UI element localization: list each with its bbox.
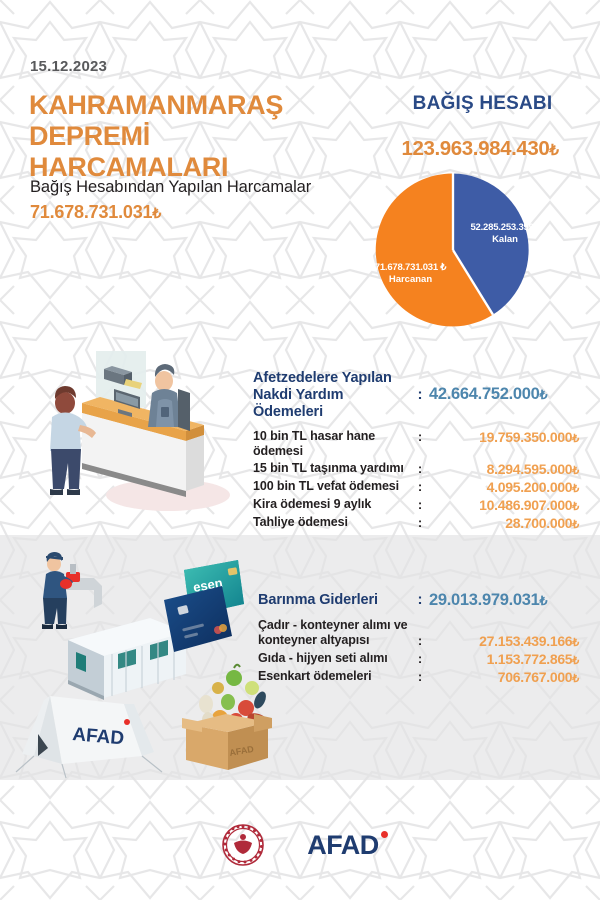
row-amount: 19.759.350.000 xyxy=(479,429,572,445)
cash-aid-heading: Afetzedelere Yapılan Nakdi Yardım Ödemel… xyxy=(253,370,411,421)
row-label: Gıda - hijyen seti alımı xyxy=(258,651,411,666)
shelter-total: 29.013.979.031₺ xyxy=(429,591,547,610)
cash-aid-header: Afetzedelere Yapılan Nakdi Yardım Ödemel… xyxy=(253,370,593,421)
row-amount: 8.294.595.000 xyxy=(487,461,573,477)
row-colon: : xyxy=(411,461,429,476)
cash-aid-colon: : xyxy=(411,370,429,403)
shelter-row: Esenkart ödemeleri : 706.767.000₺ xyxy=(258,669,598,685)
row-colon: : xyxy=(411,515,429,530)
donation-account-value: 123.963.984.430₺ xyxy=(360,137,600,161)
cash-aid-row: 10 bin TL hasar hane ödemesi : 19.759.35… xyxy=(253,429,593,459)
cash-aid-rows: 10 bin TL hasar hane ödemesi : 19.759.35… xyxy=(253,429,593,531)
cash-aid-row: 15 bin TL taşınma yardımı : 8.294.595.00… xyxy=(253,461,593,477)
esenkart-cards-illustration: esen xyxy=(150,558,250,668)
lira-icon: ₺ xyxy=(152,205,161,221)
row-label: Kira ödemesi 9 aylık xyxy=(253,497,411,512)
spent-from-donation-value: 71.678.731.031₺ xyxy=(30,202,161,223)
lira-icon: ₺ xyxy=(540,594,548,608)
afad-logo: AFAD xyxy=(307,830,379,861)
row-value: 1.153.772.865₺ xyxy=(429,651,579,667)
lira-icon: ₺ xyxy=(572,433,579,445)
row-amount: 1.153.772.865 xyxy=(487,651,573,667)
lira-icon: ₺ xyxy=(572,501,579,513)
row-colon: : xyxy=(411,669,429,684)
svg-text:AFAD: AFAD xyxy=(72,724,125,749)
lira-icon: ₺ xyxy=(572,655,579,667)
row-label-line1: Çadır - konteyner alımı ve xyxy=(258,618,411,633)
row-label: 15 bin TL taşınma yardımı xyxy=(253,461,411,476)
shelter-header: Barınma Giderleri : 29.013.979.031₺ xyxy=(258,591,598,610)
lira-icon: ₺ xyxy=(572,465,579,477)
cash-aid-row: 100 bin TL vefat ödemesi : 4.095.200.000… xyxy=(253,479,593,495)
cash-aid-section: Afetzedelere Yapılan Nakdi Yardım Ödemel… xyxy=(253,370,593,531)
shelter-row: Gıda - hijyen seti alımı : 1.153.772.865… xyxy=(258,651,598,667)
row-value: 10.486.907.000₺ xyxy=(429,497,579,513)
shelter-expenses-section: Barınma Giderleri : 29.013.979.031₺ Çadı… xyxy=(258,591,598,685)
donation-account-title: BAĞIŞ HESABI xyxy=(390,93,575,115)
row-value: 4.095.200.000₺ xyxy=(429,479,579,495)
donation-pie-chart xyxy=(375,172,531,328)
lira-icon: ₺ xyxy=(540,388,548,402)
bank-counter-illustration xyxy=(18,345,248,525)
afad-logo-dot-icon xyxy=(381,831,388,838)
shelter-rows: Çadır - konteyner alımı ve konteyner alt… xyxy=(258,618,598,685)
row-value: 706.767.000₺ xyxy=(429,669,579,685)
row-label: Çadır - konteyner alımı ve konteyner alt… xyxy=(258,618,411,648)
row-value: 27.153.439.166₺ xyxy=(429,618,579,649)
cash-aid-row: Kira ödemesi 9 aylık : 10.486.907.000₺ xyxy=(253,497,593,513)
row-label: Tahliye ödemesi xyxy=(253,515,411,530)
lira-icon: ₺ xyxy=(572,673,579,685)
shelter-total-amount: 29.013.979.031 xyxy=(429,591,540,609)
row-label: 100 bin TL vefat ödemesi xyxy=(253,479,411,494)
row-colon: : xyxy=(411,618,429,648)
cash-aid-heading-line2: Nakdi Yardım Ödemeleri xyxy=(253,387,411,421)
row-label: Esenkart ödemeleri xyxy=(258,669,411,684)
publish-date: 15.12.2023 xyxy=(30,58,107,75)
footer: AFAD xyxy=(0,810,600,880)
cash-aid-total: 42.664.752.000₺ xyxy=(429,370,547,404)
row-colon: : xyxy=(411,651,429,666)
lira-icon: ₺ xyxy=(572,483,579,495)
row-amount: 4.095.200.000 xyxy=(487,479,573,495)
spent-from-donation-label: Bağış Hesabından Yapılan Harcamalar xyxy=(30,178,311,197)
lira-icon: ₺ xyxy=(549,142,558,159)
row-amount: 706.767.000 xyxy=(498,669,573,685)
row-colon: : xyxy=(411,497,429,512)
turkish-republic-emblem-icon xyxy=(221,823,265,867)
afad-tent-illustration: AFAD xyxy=(14,690,164,780)
row-value: 19.759.350.000₺ xyxy=(429,429,579,445)
page-title-line1: KAHRAMANMARAŞ DEPREMİ xyxy=(29,90,389,152)
cash-aid-row: Tahliye ödemesi : 28.700.000₺ xyxy=(253,515,593,531)
row-label-line2: konteyner altyapısı xyxy=(258,633,411,648)
page-title: KAHRAMANMARAŞ DEPREMİ HARCAMALARI xyxy=(29,90,389,183)
donation-total-amount: 123.963.984.430 xyxy=(401,137,549,160)
row-colon: : xyxy=(411,479,429,494)
lira-icon: ₺ xyxy=(572,519,579,531)
cash-aid-heading-line1: Afetzedelere Yapılan xyxy=(253,370,411,387)
lira-icon: ₺ xyxy=(572,637,579,649)
shelter-colon: : xyxy=(411,591,429,608)
shelter-row: Çadır - konteyner alımı ve konteyner alt… xyxy=(258,618,598,649)
row-amount: 28.700.000 xyxy=(505,515,572,531)
infographic-page: 15.12.2023 KAHRAMANMARAŞ DEPREMİ HARCAMA… xyxy=(0,0,600,900)
cash-aid-total-amount: 42.664.752.000 xyxy=(429,385,540,403)
row-value: 8.294.595.000₺ xyxy=(429,461,579,477)
afad-logo-text: AFAD xyxy=(307,830,379,860)
row-label: 10 bin TL hasar hane ödemesi xyxy=(253,429,411,459)
row-colon: : xyxy=(411,429,429,444)
spent-amount: 71.678.731.031 xyxy=(30,202,152,222)
shelter-heading: Barınma Giderleri xyxy=(258,591,411,609)
row-amount: 27.153.439.166 xyxy=(479,633,572,649)
row-amount: 10.486.907.000 xyxy=(479,497,572,513)
row-value: 28.700.000₺ xyxy=(429,515,579,531)
